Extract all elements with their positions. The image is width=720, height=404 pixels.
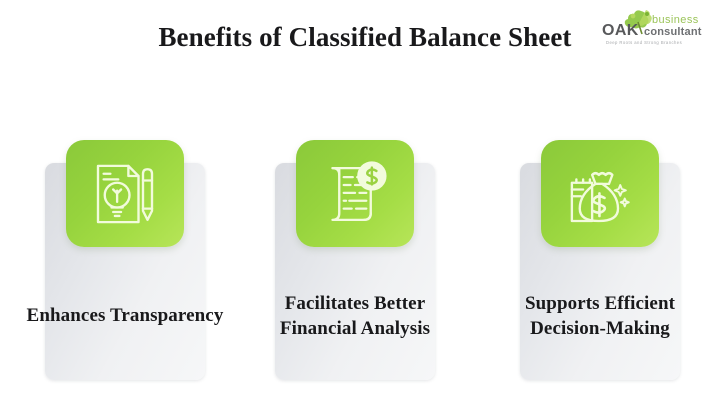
logo-primary-text: OAK (602, 22, 639, 39)
document-lightbulb-pen-icon (66, 140, 184, 247)
benefit-card-label: Facilitates Better Financial Analysis (253, 291, 457, 341)
benefit-card-facilitates-better-financial-analysis[interactable]: Facilitates Better Financial Analysis (275, 163, 435, 380)
benefit-card-label: Enhances Transparency (23, 303, 227, 328)
benefit-card-supports-efficient-decision-making[interactable]: Supports Efficient Decision-Making (520, 163, 680, 380)
benefit-card-label: Supports Efficient Decision-Making (498, 291, 702, 341)
benefit-cards-row: Enhances Transparency (0, 140, 720, 404)
invoice-dollar-coin-icon (296, 140, 414, 247)
benefit-card-enhances-transparency[interactable]: Enhances Transparency (45, 163, 205, 380)
logo-consultant-text: consultant (644, 26, 702, 38)
infographic-canvas: OAK business consultant Deep Roots and S… (0, 0, 720, 404)
logo-business-text: business (652, 14, 699, 26)
logo-tagline-text: Deep Roots and Strong Branches (606, 40, 682, 45)
page-title: Benefits of Classified Balance Sheet (140, 20, 590, 56)
money-bag-dollar-icon (541, 140, 659, 247)
oak-business-consultant-logo[interactable]: OAK business consultant Deep Roots and S… (600, 6, 712, 50)
